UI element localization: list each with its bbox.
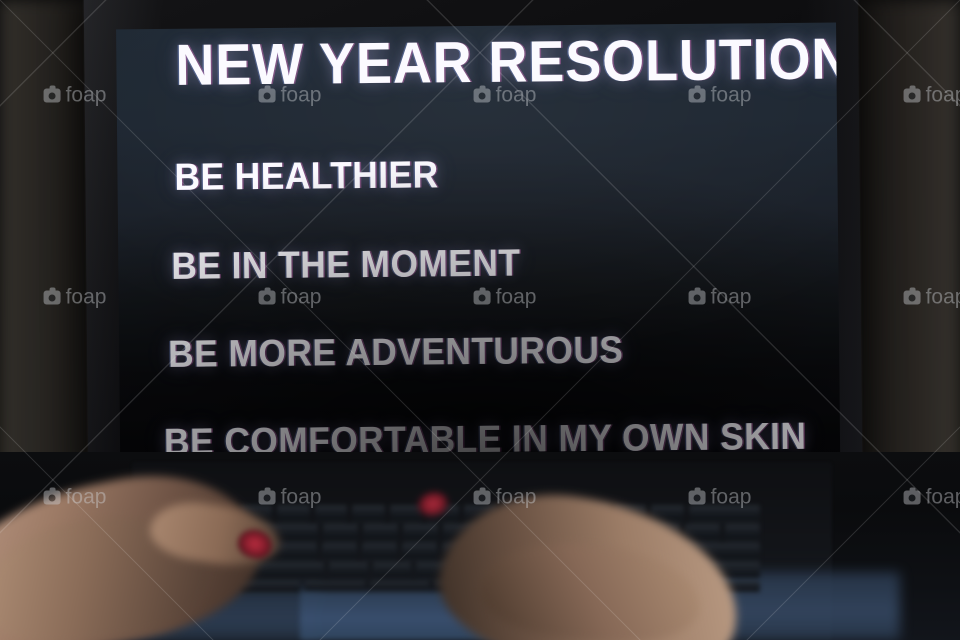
key bbox=[240, 581, 300, 592]
key bbox=[390, 505, 422, 521]
key bbox=[362, 543, 397, 559]
key bbox=[305, 581, 365, 592]
key bbox=[689, 505, 760, 521]
key bbox=[373, 562, 411, 578]
key bbox=[651, 505, 683, 521]
resolution-item-2: BE IN THE MOMENT bbox=[171, 243, 520, 288]
key bbox=[725, 524, 760, 540]
key bbox=[352, 505, 384, 521]
key bbox=[315, 505, 347, 521]
key bbox=[402, 543, 437, 559]
laptop-screen[interactable]: NEW YEAR RESOLUTION BE HEALTHIER BE IN T… bbox=[116, 23, 840, 464]
screen-title: NEW YEAR RESOLUTION bbox=[175, 28, 840, 96]
key bbox=[685, 524, 720, 540]
photograph: NEW YEAR RESOLUTION BE HEALTHIER BE IN T… bbox=[0, 0, 960, 640]
screen-text-block: NEW YEAR RESOLUTION BE HEALTHIER BE IN T… bbox=[116, 23, 840, 464]
key bbox=[370, 581, 430, 592]
key bbox=[403, 524, 438, 540]
laptop-lid: NEW YEAR RESOLUTION BE HEALTHIER BE IN T… bbox=[84, 0, 863, 480]
key bbox=[323, 524, 358, 540]
key bbox=[363, 524, 398, 540]
resolution-item-1: BE HEALTHIER bbox=[174, 154, 438, 199]
resolution-item-3: BE MORE ADVENTUROUS bbox=[168, 330, 624, 376]
key bbox=[322, 543, 357, 559]
key bbox=[277, 505, 309, 521]
key bbox=[329, 562, 367, 578]
